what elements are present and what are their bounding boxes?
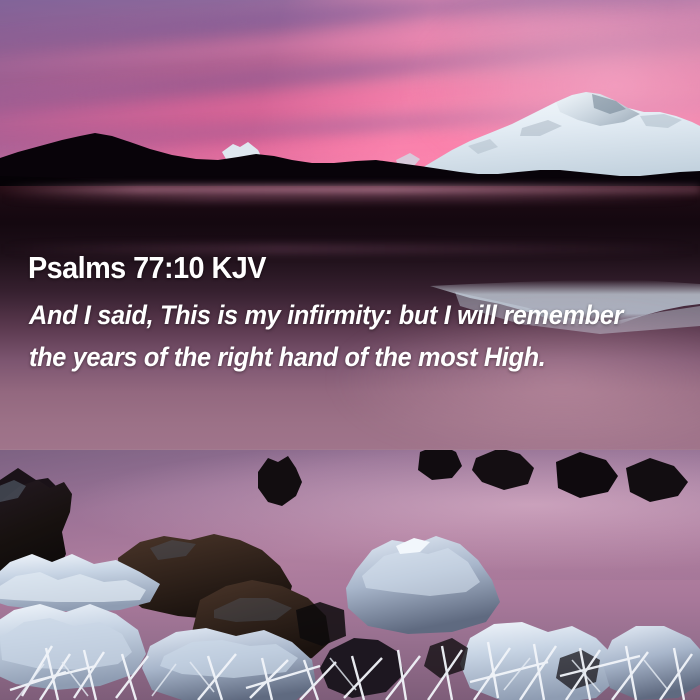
verse-image-canvas: Psalms 77:10 KJV And I said, This is my …	[0, 0, 700, 700]
frosted-rock-shapes	[0, 450, 700, 700]
foreground-rocks-photo	[0, 450, 700, 700]
verse-text: And I said, This is my infirmity: but I …	[29, 294, 655, 378]
verse-reference: Psalms 77:10 KJV	[28, 250, 266, 286]
verse-text-overlay: Psalms 77:10 KJV And I said, This is my …	[0, 232, 700, 450]
